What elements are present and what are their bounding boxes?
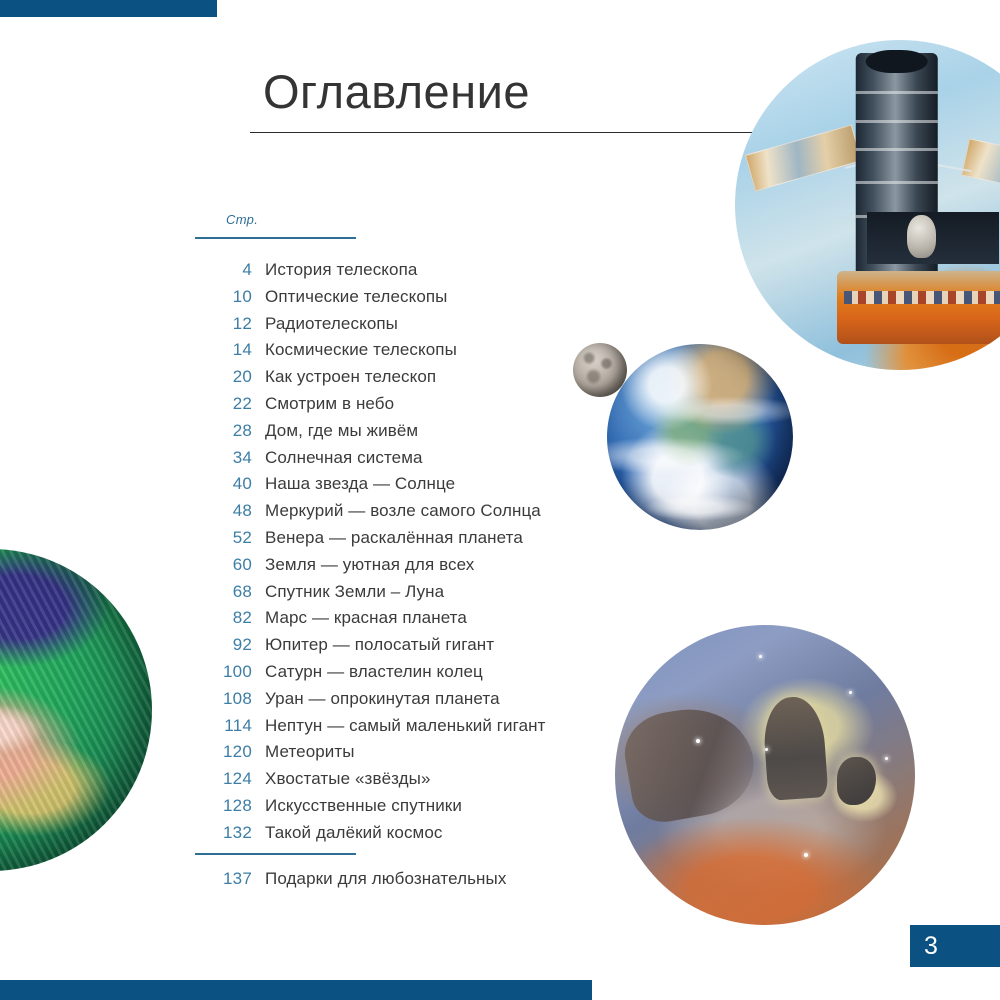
toc-page-number: 132 [195,823,252,843]
toc-entry-label: История телескопа [252,260,417,280]
toc-row[interactable]: 34Солнечная система [195,448,615,475]
toc-page-number: 20 [195,367,252,387]
bottom-accent-bar [0,980,592,1000]
toc-entry-label: Смотрим в небо [252,394,394,414]
toc-page-number: 48 [195,501,252,521]
toc-row[interactable]: 10Оптические телескопы [195,287,615,314]
toc-row[interactable]: 60Земля — уютная для всех [195,555,615,582]
toc-row[interactable]: 28Дом, где мы живём [195,421,615,448]
hubble-aperture-cap [865,50,928,73]
toc-entry-label: Такой далёкий космос [252,823,443,843]
toc-row[interactable]: 14Космические телескопы [195,340,615,367]
toc-row[interactable]: 12Радиотелескопы [195,314,615,341]
toc-page-number: 92 [195,635,252,655]
toc-row[interactable]: 100Сатурн — властелин колец [195,662,615,689]
star-speck [885,757,888,760]
toc-entry-label: Как устроен телескоп [252,367,436,387]
toc-entry-label: Нептун — самый маленький гигант [252,716,546,736]
toc-row[interactable]: 114Нептун — самый маленький гигант [195,716,615,743]
toc-page-number: 52 [195,528,252,548]
page-title: Оглавление [263,68,530,115]
toc-row[interactable]: 132Такой далёкий космос [195,823,615,850]
star-speck [804,853,808,857]
hubble-solar-panel-left [745,124,862,191]
toc-page: Оглавление Стр. 4История телескопа10Опти… [0,0,1000,1000]
toc-entry-label: Наша звезда — Солнце [252,474,455,494]
toc-entry-label: Искусственные спутники [252,796,462,816]
nebula-dust-ridge [619,699,762,827]
footer-divider [195,853,356,855]
venus-surface-texture [0,549,152,871]
star-speck [765,748,768,751]
toc-page-number: 124 [195,769,252,789]
toc-entry-label: Спутник Земли – Луна [252,582,444,602]
toc-entry-label: Солнечная система [252,448,423,468]
toc-page-number: 128 [195,796,252,816]
title-divider [250,132,782,133]
toc-entry-label: Венера — раскалённая планета [252,528,523,548]
earth-cloud-swirls [607,344,793,530]
toc-page-number: 108 [195,689,252,709]
toc-footer-label: Подарки для любознательных [252,869,506,889]
toc-row[interactable]: 92Юпитер — полосатый гигант [195,635,615,662]
toc-page-number: 22 [195,394,252,414]
toc-entry-label: Марс — красная планета [252,608,467,628]
toc-page-number: 12 [195,314,252,334]
page-number-badge: 3 [910,925,1000,967]
toc-footer-row[interactable]: 137 Подарки для любознательных [195,869,655,896]
toc-row[interactable]: 40Наша звезда — Солнце [195,474,615,501]
top-accent-bar [0,0,217,17]
column-header-divider [195,237,356,239]
toc-row[interactable]: 48Меркурий — возле самого Солнца [195,501,615,528]
toc-page-number: 60 [195,555,252,575]
star-speck [759,655,762,658]
hubble-base-module [837,271,1000,344]
toc-list: 4История телескопа10Оптические телескопы… [195,260,615,850]
nebula-pillar [762,695,829,801]
toc-page-number: 82 [195,608,252,628]
venus-radar-map-photo [0,549,152,871]
toc-entry-label: Меркурий — возле самого Солнца [252,501,541,521]
toc-entry-label: Хвостатые «звёзды» [252,769,431,789]
hubble-space-telescope-photo [735,40,1000,370]
toc-page-number: 34 [195,448,252,468]
toc-entry-label: Сатурн — властелин колец [252,662,483,682]
toc-entry-label: Уран — опрокинутая планета [252,689,500,709]
hubble-solar-panel-right [961,138,1000,198]
toc-row[interactable]: 120Метеориты [195,742,615,769]
toc-row[interactable]: 52Венера — раскалённая планета [195,528,615,555]
toc-entry-label: Юпитер — полосатый гигант [252,635,494,655]
toc-entry-label: Радиотелескопы [252,314,398,334]
toc-page-number: 100 [195,662,252,682]
toc-footer-page-number: 137 [195,869,252,889]
toc-page-number: 68 [195,582,252,602]
toc-row[interactable]: 82Марс — красная планета [195,608,615,635]
star-speck [696,739,700,743]
toc-row[interactable]: 128Искусственные спутники [195,796,615,823]
toc-entry-label: Земля — уютная для всех [252,555,474,575]
toc-row[interactable]: 22Смотрим в небо [195,394,615,421]
toc-page-number: 114 [195,716,252,736]
toc-page-number: 120 [195,742,252,762]
moon-photo [573,343,627,397]
earth-planet-photo [607,344,793,530]
hubble-base-detail [844,291,1000,304]
toc-page-number: 4 [195,260,252,280]
toc-page-number: 28 [195,421,252,441]
toc-page-number: 40 [195,474,252,494]
toc-row[interactable]: 68Спутник Земли – Луна [195,582,615,609]
astronaut-figure [907,215,937,258]
toc-page-number: 10 [195,287,252,307]
column-header-page: Стр. [226,212,258,227]
toc-entry-label: Метеориты [252,742,355,762]
toc-entry-label: Космические телескопы [252,340,457,360]
toc-entry-label: Дом, где мы живём [252,421,418,441]
nebula-photo [615,625,915,925]
toc-row[interactable]: 124Хвостатые «звёзды» [195,769,615,796]
star-speck [849,691,852,694]
toc-page-number: 14 [195,340,252,360]
toc-row[interactable]: 4История телескопа [195,260,615,287]
nebula-globule [837,757,876,805]
toc-row[interactable]: 108Уран — опрокинутая планета [195,689,615,716]
toc-entry-label: Оптические телескопы [252,287,448,307]
toc-row[interactable]: 20Как устроен телескоп [195,367,615,394]
